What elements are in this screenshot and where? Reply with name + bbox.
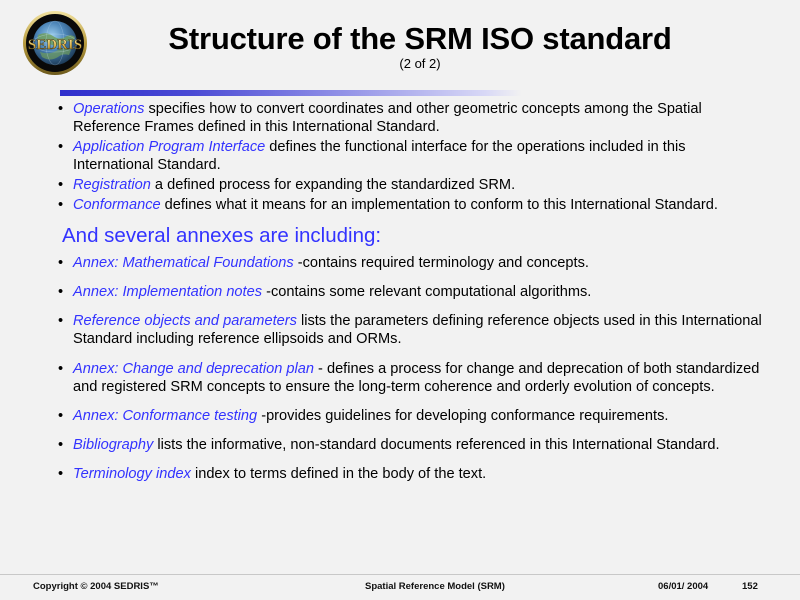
list-item: • Annex: Conformance testing -provides g… — [58, 407, 768, 425]
list-item-body: -contains required terminology and conce… — [294, 255, 589, 271]
list-item-term: Registration — [73, 177, 151, 193]
list-item-term: Annex: Change and deprecation plan — [73, 361, 314, 377]
list-item-text: Bibliography lists the informative, non-… — [73, 436, 768, 454]
list-item-text: Annex: Mathematical Foundations -contain… — [73, 254, 768, 272]
logo-wordmark: SEDRIS — [28, 37, 82, 53]
list-item-body: a defined process for expanding the stan… — [151, 177, 515, 193]
list-item: • Application Program Interface defines … — [58, 138, 768, 174]
list-item-text: Annex: Conformance testing -provides gui… — [73, 407, 768, 425]
bullet-icon: • — [58, 407, 73, 425]
slide: SEDRIS Structure of the SRM ISO standard… — [0, 0, 800, 600]
bullet-group-primary: • Operations specifies how to convert co… — [58, 100, 768, 215]
footer-page-number: 152 — [742, 581, 758, 592]
list-item-text: Registration a defined process for expan… — [73, 176, 768, 194]
list-item: • Bibliography lists the informative, no… — [58, 436, 768, 454]
bullet-icon: • — [58, 254, 73, 272]
list-item: • Registration a defined process for exp… — [58, 176, 768, 194]
list-item: • Conformance defines what it means for … — [58, 196, 768, 214]
list-item-body: -contains some relevant computational al… — [262, 284, 591, 300]
footer-copyright: Copyright © 2004 SEDRIS™ — [33, 581, 159, 592]
list-item-term: Reference objects and parameters — [73, 313, 297, 329]
bullet-icon: • — [58, 465, 73, 483]
section-heading: And several annexes are including: — [62, 224, 768, 249]
list-item-term: Conformance — [73, 197, 161, 213]
list-item-body: specifies how to convert coordinates and… — [73, 101, 702, 135]
bullet-icon: • — [58, 100, 73, 118]
list-item-body: -provides guidelines for developing conf… — [257, 408, 668, 424]
list-item-text: Annex: Implementation notes -contains so… — [73, 283, 768, 301]
list-item: • Annex: Mathematical Foundations -conta… — [58, 254, 768, 272]
bullet-group-annexes: • Annex: Mathematical Foundations -conta… — [58, 254, 768, 483]
slide-footer: Copyright © 2004 SEDRIS™ Spatial Referen… — [0, 578, 800, 600]
list-item-text: Reference objects and parameters lists t… — [73, 312, 768, 348]
list-item-text: Operations specifies how to convert coor… — [73, 100, 768, 136]
list-item-body: lists the informative, non-standard docu… — [153, 437, 719, 453]
sedris-globe-logo: SEDRIS — [18, 10, 92, 76]
list-item-text: Annex: Change and deprecation plan - def… — [73, 360, 768, 396]
footer-date: 06/01/ 2004 — [658, 581, 708, 592]
title-block: Structure of the SRM ISO standard (2 of … — [100, 22, 740, 71]
page-subtitle: (2 of 2) — [100, 56, 740, 71]
list-item-term: Application Program Interface — [73, 139, 265, 155]
list-item-term: Operations — [73, 101, 144, 117]
list-item-term: Annex: Conformance testing — [73, 408, 257, 424]
list-item-term: Bibliography — [73, 437, 153, 453]
list-item-text: Terminology index index to terms defined… — [73, 465, 768, 483]
list-item-text: Application Program Interface defines th… — [73, 138, 768, 174]
bullet-icon: • — [58, 283, 73, 301]
bullet-icon: • — [58, 138, 73, 156]
bullet-icon: • — [58, 312, 73, 330]
list-item: • Annex: Change and deprecation plan - d… — [58, 360, 768, 396]
page-title: Structure of the SRM ISO standard — [100, 22, 740, 55]
list-item: • Terminology index index to terms defin… — [58, 465, 768, 483]
list-item-term: Annex: Mathematical Foundations — [73, 255, 294, 271]
title-divider — [60, 90, 522, 96]
list-item-text: Conformance defines what it means for an… — [73, 196, 768, 214]
list-item: • Reference objects and parameters lists… — [58, 312, 768, 348]
list-item-body: defines what it means for an implementat… — [161, 197, 718, 213]
bullet-icon: • — [58, 176, 73, 194]
list-item: • Operations specifies how to convert co… — [58, 100, 768, 136]
list-item: • Annex: Implementation notes -contains … — [58, 283, 768, 301]
list-item-term: Annex: Implementation notes — [73, 284, 262, 300]
list-item-body: index to terms defined in the body of th… — [191, 466, 486, 482]
bullet-icon: • — [58, 436, 73, 454]
footer-document-title: Spatial Reference Model (SRM) — [365, 581, 505, 592]
bullet-icon: • — [58, 196, 73, 214]
list-item-term: Terminology index — [73, 466, 191, 482]
footer-divider — [0, 574, 800, 575]
bullet-icon: • — [58, 360, 73, 378]
slide-body: • Operations specifies how to convert co… — [58, 100, 768, 494]
